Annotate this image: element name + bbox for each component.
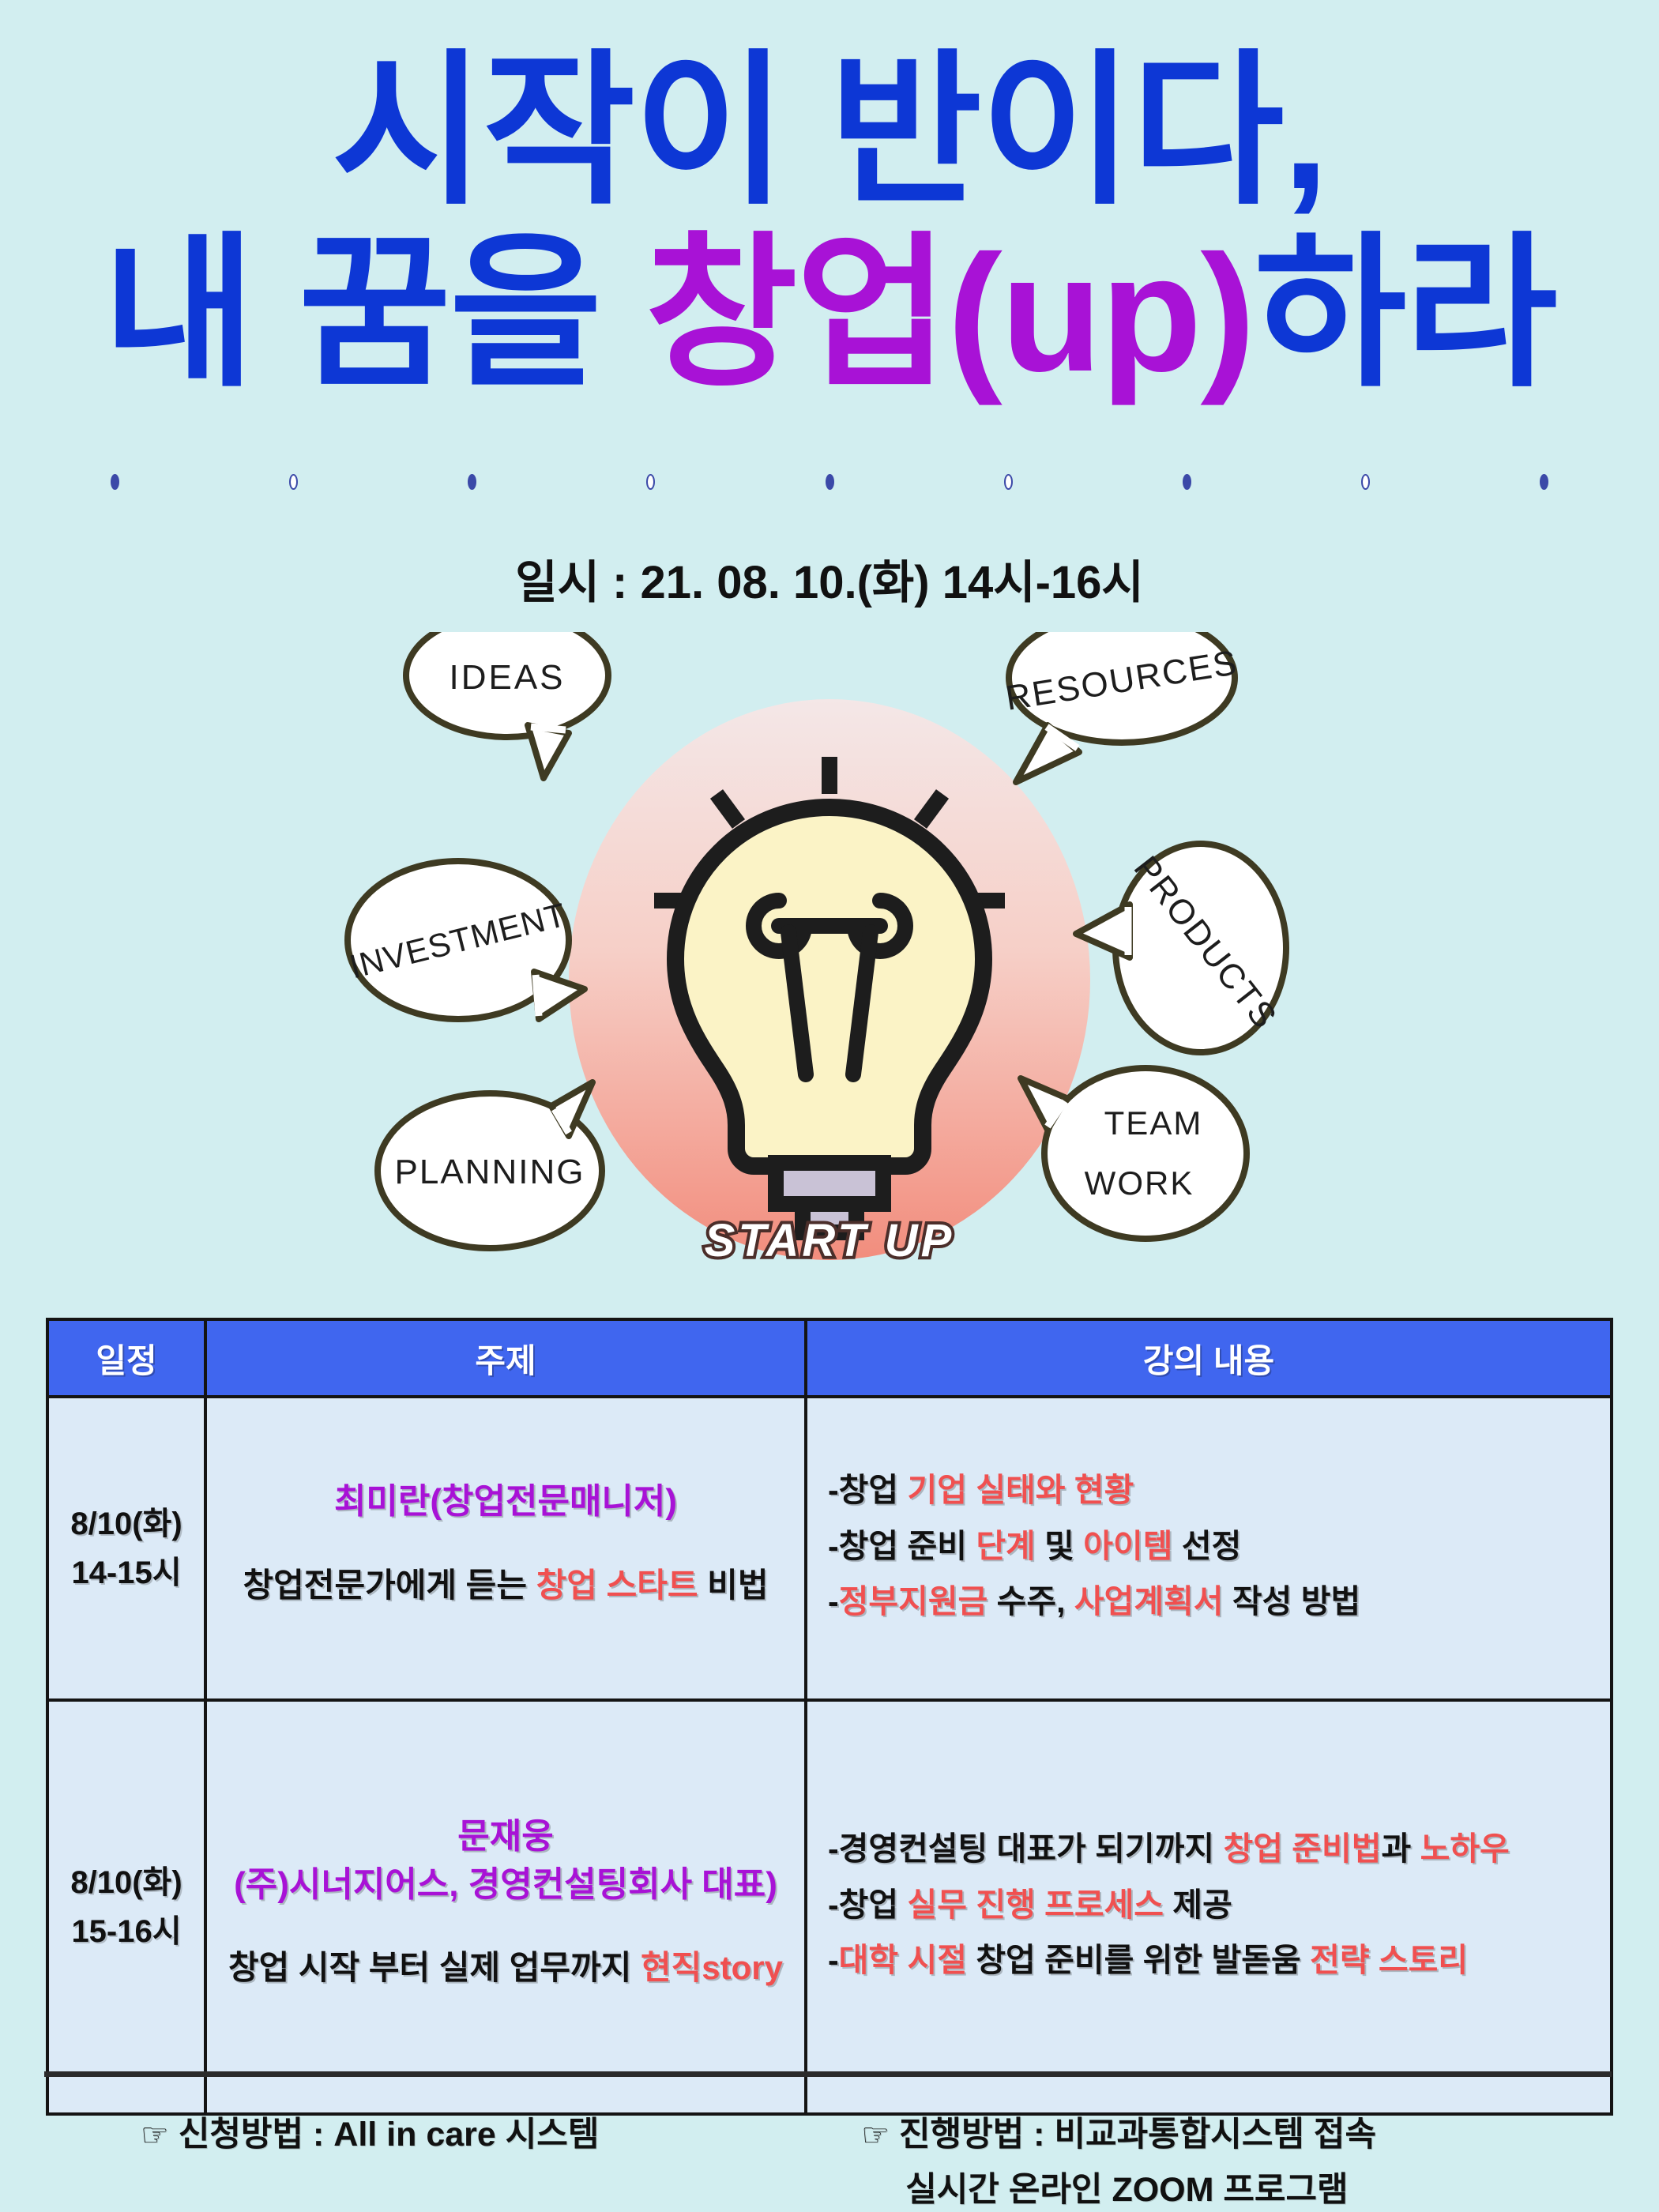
- column-header-topic: 주제: [205, 1319, 806, 1397]
- pointing-hand-icon: ☞: [861, 2118, 890, 2153]
- footer-apply-method: ☞ 신청방법 : All in care 시스템: [141, 2108, 599, 2212]
- bullet-text: 및: [1036, 1528, 1084, 1564]
- footer-delivery-line-1: ☞ 진행방법 : 비교과통합시스템 접속: [861, 2108, 1376, 2163]
- row2-topic-cell: 문재웅 (주)시너지어스, 경영컨설팅회사 대표) 창업 시작 부터 실제 업무…: [205, 1700, 806, 2114]
- footer-divider: [44, 2071, 1612, 2077]
- row1-bullet: -창업 기업 실태와 현황: [828, 1462, 1596, 1518]
- svg-text:TEAM: TEAM: [1104, 1104, 1203, 1142]
- footer-apply-text: 신청방법 : All in care 시스템: [179, 2116, 600, 2154]
- row1-speaker: 최미란(창업전문매니저): [221, 1478, 790, 1526]
- bullet-text: 작성 방법: [1224, 1583, 1361, 1619]
- bullet-highlight: 대학 시절: [839, 1942, 967, 1978]
- bullet-highlight: 창업 준비법: [1223, 1830, 1381, 1867]
- bullet-text: -창업: [828, 1472, 907, 1508]
- title-line-2-suffix: 하라: [1254, 220, 1556, 406]
- bullet-text: -창업: [828, 1887, 907, 1923]
- title-line-2-prefix: 내 꿈을: [103, 220, 645, 406]
- row2-schedule-cell: 8/10(화) 15-16시: [47, 1700, 205, 2114]
- row2-time: 15-16시: [50, 1907, 203, 1956]
- bullet-highlight: 아이템: [1083, 1528, 1172, 1564]
- row2-date: 8/10(화): [50, 1858, 203, 1907]
- title-line-2: 내 꿈을 창업(up)하라: [0, 222, 1659, 404]
- bullet-highlight: 기업 실태와 현황: [907, 1472, 1134, 1508]
- title-line-2-highlight: 창업(up): [645, 220, 1255, 406]
- divider-dot: [1183, 474, 1191, 490]
- divider-dot: [289, 474, 298, 490]
- divider-dot: [826, 474, 834, 490]
- row2-speaker: 문재웅 (주)시너지어스, 경영컨설팅회사 대표): [221, 1813, 790, 1909]
- row2-subject: 창업 시작 부터 실제 업무까지 현직story: [221, 1945, 790, 1992]
- divider-dot: [468, 474, 476, 490]
- row1-subject: 창업전문가에게 듣는 창업 스타트 비법: [221, 1563, 790, 1609]
- row2-bullet: -창업 실무 진행 프로세스 제공: [828, 1877, 1596, 1933]
- row2-speaker-title: (주)시너지어스, 경영컨설팅회사 대표): [221, 1861, 790, 1909]
- row1-subject-b: 비법: [698, 1567, 769, 1604]
- divider-dot: [1004, 474, 1013, 490]
- row1-topic-cell: 최미란(창업전문매니저) 창업전문가에게 듣는 창업 스타트 비법: [205, 1397, 806, 1700]
- divider-dot: [111, 474, 119, 490]
- bullet-text: 수주,: [987, 1583, 1074, 1619]
- title-line-1: 시작이 반이다,: [0, 39, 1659, 222]
- bullet-highlight: 실무 진행 프로세스: [907, 1887, 1164, 1923]
- bullet-text: 선정: [1172, 1528, 1241, 1564]
- row2-bullet: -대학 시절 창업 준비를 위한 발돋움 전략 스토리: [828, 1932, 1596, 1988]
- bullet-highlight: 단계: [976, 1528, 1035, 1564]
- bullet-highlight: 전략 스토리: [1310, 1942, 1468, 1978]
- schedule-table: 일정 주제 강의 내용 8/10(화) 14-15시 최미란(창업전문매니저) …: [46, 1318, 1613, 2116]
- row1-subject-a: 창업전문가에게 듣는: [243, 1567, 536, 1604]
- footer-delivery-method: ☞ 진행방법 : 비교과통합시스템 접속 실시간 온라인 ZOOM 프로그램: [861, 2108, 1376, 2212]
- row2-speaker-name: 문재웅: [221, 1813, 790, 1861]
- row1-bullet: -창업 준비 단계 및 아이템 선정: [828, 1518, 1596, 1574]
- row2-bullet: -경영컨설팅 대표가 되기까지 창업 준비법과 노하우: [828, 1821, 1596, 1877]
- table-row: 8/10(화) 15-16시 문재웅 (주)시너지어스, 경영컨설팅회사 대표)…: [47, 1700, 1612, 2114]
- column-header-schedule: 일정: [47, 1319, 205, 1397]
- bubble-products: PRODUCTS: [1076, 844, 1286, 1052]
- table-row: 8/10(화) 14-15시 최미란(창업전문매니저) 창업전문가에게 듣는 창…: [47, 1397, 1612, 1700]
- row2-subject-highlight: 현직story: [641, 1949, 783, 1986]
- row2-content-cell: -경영컨설팅 대표가 되기까지 창업 준비법과 노하우 -창업 실무 진행 프로…: [806, 1700, 1612, 2114]
- row1-subject-highlight: 창업 스타트: [536, 1567, 698, 1604]
- pointing-hand-icon: ☞: [141, 2118, 169, 2153]
- startup-illustration: START UP IDEAS RESOURCES: [332, 632, 1327, 1296]
- row1-date: 8/10(화): [50, 1499, 203, 1548]
- bubble-resources: RESOURCES: [1003, 632, 1241, 782]
- bullet-highlight: 노하우: [1420, 1830, 1510, 1867]
- bubble-planning: PLANNING: [378, 1082, 602, 1248]
- bullet-text: 창업 준비를 위한 발돋움: [967, 1942, 1310, 1978]
- dot-divider: [111, 474, 1548, 490]
- footer-delivery-text: 진행방법 : 비교과통합시스템 접속: [899, 2116, 1376, 2154]
- svg-text:WORK: WORK: [1085, 1164, 1194, 1202]
- footer-delivery-line-2: 실시간 온라인 ZOOM 프로그램: [861, 2163, 1376, 2212]
- divider-dot: [1540, 474, 1548, 490]
- divider-dot: [1361, 474, 1370, 490]
- poster-root: 시작이 반이다, 내 꿈을 창업(up)하라 일시 : 21. 08. 10.(…: [0, 0, 1659, 2212]
- svg-text:IDEAS: IDEAS: [449, 658, 565, 697]
- bubble-investment: INVESTMENT: [346, 861, 585, 1019]
- event-datetime: 일시 : 21. 08. 10.(화) 14시-16시: [0, 545, 1659, 611]
- row1-schedule-cell: 8/10(화) 14-15시: [47, 1397, 205, 1700]
- row1-bullet: -정부지원금 수주, 사업계획서 작성 방법: [828, 1574, 1596, 1630]
- table-header-row: 일정 주제 강의 내용: [47, 1319, 1612, 1397]
- start-up-caption: START UP: [705, 1215, 955, 1266]
- row1-time: 14-15시: [50, 1548, 203, 1597]
- bullet-highlight: 정부지원금: [839, 1583, 988, 1619]
- bullet-text: -경영컨설팅 대표가 되기까지: [828, 1830, 1223, 1867]
- footer: ☞ 신청방법 : All in care 시스템 ☞ 진행방법 : 비교과통합시…: [46, 2108, 1613, 2212]
- svg-text:PLANNING: PLANNING: [395, 1153, 585, 1191]
- column-header-content: 강의 내용: [806, 1319, 1612, 1397]
- row2-subject-a: 창업 시작 부터 실제 업무까지: [228, 1949, 641, 1986]
- poster-title: 시작이 반이다, 내 꿈을 창업(up)하라: [0, 39, 1659, 404]
- bullet-text: 과: [1381, 1830, 1420, 1867]
- bullet-text: -: [828, 1583, 839, 1619]
- divider-dot: [646, 474, 655, 490]
- bullet-text: -: [828, 1942, 839, 1978]
- bullet-text: 제공: [1164, 1887, 1232, 1923]
- bubble-teamwork: TEAM WORK: [1021, 1068, 1247, 1239]
- bullet-text: -창업 준비: [828, 1528, 976, 1564]
- bullet-highlight: 사업계획서: [1074, 1583, 1224, 1619]
- row1-content-cell: -창업 기업 실태와 현황 -창업 준비 단계 및 아이템 선정 -정부지원금 …: [806, 1397, 1612, 1700]
